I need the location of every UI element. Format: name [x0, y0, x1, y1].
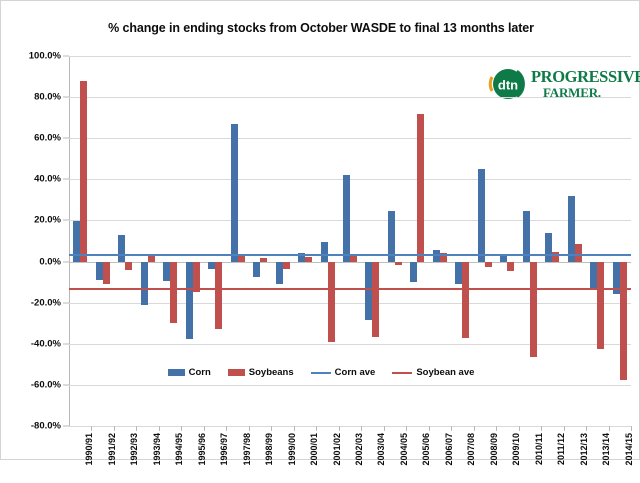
bar-corn-1997-98	[231, 124, 238, 262]
x-axis-tick-label: 2005/06	[421, 433, 431, 466]
legend-item-soybeans[interactable]: Soybeans	[228, 367, 294, 378]
x-axis-tick-label: 2000/01	[309, 433, 319, 466]
x-axis-tick-label: 2004/05	[399, 433, 409, 466]
bar-soybeans-2013-14	[597, 262, 604, 349]
x-axis-tick-mark	[159, 426, 160, 431]
x-axis-tick-label: 1997/98	[242, 433, 252, 466]
bar-soybeans-1992-93	[125, 262, 132, 270]
legend-item-corn-ave[interactable]: Corn ave	[311, 367, 376, 378]
bar-soybeans-2004-05	[395, 262, 402, 265]
x-axis-tick-mark	[204, 426, 205, 431]
x-axis-tick-mark	[451, 426, 452, 431]
bar-soybeans-2005-06	[417, 114, 424, 262]
x-axis-tick-mark	[249, 426, 250, 431]
x-axis-tick-mark	[181, 426, 182, 431]
gridline	[69, 303, 631, 304]
y-axis-tick-label: 40.0%	[5, 174, 61, 185]
bar-corn-2007-08	[455, 262, 462, 285]
x-axis-tick-label: 2011/12	[556, 433, 566, 465]
x-axis-tick-label: 2012/13	[579, 433, 589, 466]
x-axis-tick-mark	[226, 426, 227, 431]
bar-soybeans-1993-94	[148, 256, 155, 261]
y-axis-tick-label: -20.0%	[5, 297, 61, 308]
legend-swatch-icon	[311, 372, 331, 374]
x-axis-tick-label: 2006/07	[444, 433, 454, 466]
x-axis-tick-label: 2001/02	[332, 433, 342, 466]
gridline	[69, 385, 631, 386]
bar-soybeans-2007-08	[462, 262, 469, 338]
x-axis-tick-mark	[541, 426, 542, 431]
y-axis-tick-label: 0.0%	[5, 256, 61, 267]
y-axis-tick-label: 20.0%	[5, 215, 61, 226]
bar-corn-1998-99	[253, 262, 260, 277]
y-axis-tick-label: -40.0%	[5, 338, 61, 349]
bar-corn-2009-10	[500, 256, 507, 261]
legend-label: Soybeans	[249, 367, 294, 378]
chart-container: % change in ending stocks from October W…	[0, 0, 640, 460]
average-line-soybean-ave	[69, 288, 631, 290]
average-line-corn-ave	[69, 254, 631, 256]
gridline	[69, 138, 631, 139]
gridline	[69, 262, 631, 263]
bar-soybeans-1998-99	[260, 258, 267, 261]
bar-soybeans-1996-97	[215, 262, 222, 330]
bar-corn-2012-13	[568, 196, 575, 262]
x-axis-tick-mark	[429, 426, 430, 431]
bar-corn-1996-97	[208, 262, 215, 269]
x-axis-tick-label: 1999/00	[287, 433, 297, 466]
bar-soybeans-1994-95	[170, 262, 177, 324]
bar-corn-1994-95	[163, 262, 170, 282]
y-axis-tick-label: -80.0%	[5, 421, 61, 432]
bar-soybeans-2010-11	[530, 262, 537, 358]
x-axis-tick-label: 1994/95	[174, 433, 184, 466]
bar-soybeans-1999-00	[283, 262, 290, 269]
chart-title: % change in ending stocks from October W…	[1, 21, 640, 35]
bar-corn-2001-02	[321, 242, 328, 262]
bar-soybeans-1990-91	[80, 81, 87, 262]
x-axis-tick-label: 1993/94	[152, 433, 162, 466]
x-axis-tick-mark	[316, 426, 317, 431]
x-axis-tick-mark	[384, 426, 385, 431]
bar-soybeans-2001-02	[328, 262, 335, 342]
x-axis-tick-label: 2003/04	[376, 433, 386, 466]
bar-corn-2011-12	[545, 233, 552, 262]
x-axis-tick-mark	[136, 426, 137, 431]
y-axis-tick-label: -60.0%	[5, 379, 61, 390]
bar-corn-1993-94	[141, 262, 148, 305]
x-axis-tick-mark	[91, 426, 92, 431]
x-axis-tick-label: 2013/14	[601, 433, 611, 466]
gridline	[69, 97, 631, 98]
x-axis-tick-mark	[564, 426, 565, 431]
bar-soybeans-2008-09	[485, 262, 492, 267]
legend-item-soybean-ave[interactable]: Soybean ave	[392, 367, 474, 378]
gridline	[69, 344, 631, 345]
bar-corn-2003-04	[365, 262, 372, 321]
legend-label: Corn	[189, 367, 211, 378]
x-axis-tick-label: 1992/93	[129, 433, 139, 466]
x-axis-tick-label: 1995/96	[197, 433, 207, 466]
x-axis-tick-label: 2008/09	[489, 433, 499, 466]
x-axis-tick-label: 1998/99	[264, 433, 274, 466]
y-axis-tick-label: 100.0%	[5, 51, 61, 62]
x-axis-tick-mark	[114, 426, 115, 431]
gridline	[69, 179, 631, 180]
x-axis-tick-mark	[339, 426, 340, 431]
gridline	[69, 220, 631, 221]
x-axis-tick-mark	[361, 426, 362, 431]
chart-legend: CornSoybeansCorn aveSoybean ave	[1, 367, 640, 378]
bar-soybeans-2014-15	[620, 262, 627, 380]
x-axis-tick-mark	[474, 426, 475, 431]
legend-label: Corn ave	[335, 367, 376, 378]
bar-corn-2008-09	[478, 169, 485, 262]
x-axis-tick-mark	[271, 426, 272, 431]
bar-corn-2005-06	[410, 262, 417, 283]
legend-item-corn[interactable]: Corn	[168, 367, 211, 378]
gridline	[69, 56, 631, 57]
bar-soybeans-2009-10	[507, 262, 514, 271]
bar-corn-1995-96	[186, 262, 193, 339]
bar-corn-1992-93	[118, 235, 125, 262]
bar-corn-1999-00	[276, 262, 283, 285]
x-axis-tick-mark	[609, 426, 610, 431]
x-axis-tick-mark	[586, 426, 587, 431]
legend-swatch-icon	[392, 372, 412, 374]
bar-soybeans-1997-98	[238, 256, 245, 261]
x-axis-labels: 1990/911991/921992/931993/941994/951995/…	[69, 433, 631, 483]
bar-corn-2013-14	[590, 262, 597, 290]
x-axis-tick-label: 2014/15	[624, 433, 634, 466]
bar-soybeans-1991-92	[103, 262, 110, 285]
legend-swatch-icon	[228, 369, 245, 376]
x-axis-tick-mark	[496, 426, 497, 431]
x-axis-tick-label: 2010/11	[534, 433, 544, 465]
x-axis-tick-label: 1991/92	[107, 433, 117, 466]
legend-swatch-icon	[168, 369, 185, 376]
x-axis-tick-label: 2007/08	[466, 433, 476, 466]
legend-label: Soybean ave	[416, 367, 474, 378]
x-axis-tick-mark	[631, 426, 632, 431]
y-axis-tick-label: 80.0%	[5, 92, 61, 103]
bar-soybeans-2003-04	[372, 262, 379, 337]
x-axis-tick-label: 1990/91	[84, 433, 94, 466]
x-axis-tick-mark	[406, 426, 407, 431]
x-axis-tick-label: 1996/97	[219, 433, 229, 466]
bar-corn-1991-92	[96, 262, 103, 281]
gridline	[69, 426, 631, 427]
x-axis-tick-label: 2009/10	[511, 433, 521, 466]
x-axis-tick-label: 2002/03	[354, 433, 364, 466]
x-axis-tick-mark	[294, 426, 295, 431]
bar-soybeans-2000-01	[305, 257, 312, 261]
bar-corn-2002-03	[343, 175, 350, 261]
y-axis-tick-label: 60.0%	[5, 133, 61, 144]
bar-soybeans-2012-13	[575, 244, 582, 261]
x-axis-tick-mark	[519, 426, 520, 431]
